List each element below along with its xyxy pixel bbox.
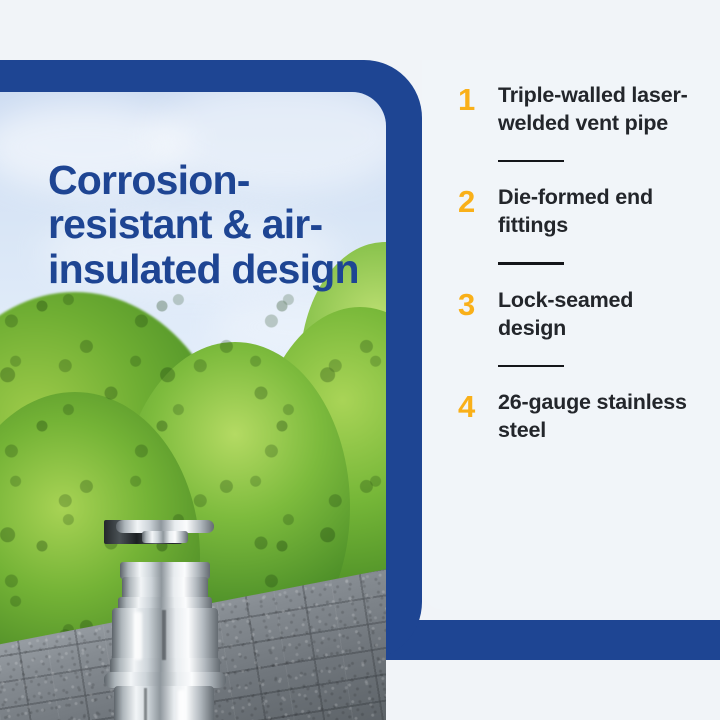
list-item-number: 1 bbox=[458, 82, 482, 115]
list-item-label: Die-formed end fittings bbox=[498, 184, 706, 240]
list-item-number: 4 bbox=[458, 389, 482, 422]
list-item-label: Lock-seamed design bbox=[498, 287, 706, 343]
vent-shadow bbox=[144, 688, 147, 720]
list-item-number: 3 bbox=[458, 287, 482, 320]
list-item-label: 26-gauge stainless steel bbox=[498, 389, 706, 445]
page-title: Corrosion-resistant & air-insulated desi… bbox=[48, 158, 378, 291]
list-item-label: Triple-walled laser-welded vent pipe bbox=[498, 82, 706, 138]
features-card: 1 Triple-walled laser-welded vent pipe 2… bbox=[422, 60, 720, 610]
list-item: 1 Triple-walled laser-welded vent pipe bbox=[458, 82, 706, 138]
vent-highlight bbox=[134, 612, 142, 660]
stainless-vent-pipe-icon bbox=[104, 520, 226, 720]
list-item: 2 Die-formed end fittings bbox=[458, 184, 706, 240]
vent-cap-neck bbox=[142, 531, 188, 543]
list-divider bbox=[498, 365, 564, 368]
list-item-number: 2 bbox=[458, 184, 482, 217]
vent-body-lower bbox=[114, 686, 214, 720]
vent-ring bbox=[122, 577, 208, 599]
list-divider bbox=[498, 262, 564, 265]
list-item: 4 26-gauge stainless steel bbox=[458, 389, 706, 445]
list-item: 3 Lock-seamed design bbox=[458, 287, 706, 343]
list-divider bbox=[498, 160, 564, 163]
vent-highlight bbox=[178, 690, 185, 720]
features-list: 1 Triple-walled laser-welded vent pipe 2… bbox=[458, 82, 706, 445]
infographic-canvas: Corrosion-resistant & air-insulated desi… bbox=[0, 0, 720, 720]
vent-shadow bbox=[162, 610, 166, 660]
